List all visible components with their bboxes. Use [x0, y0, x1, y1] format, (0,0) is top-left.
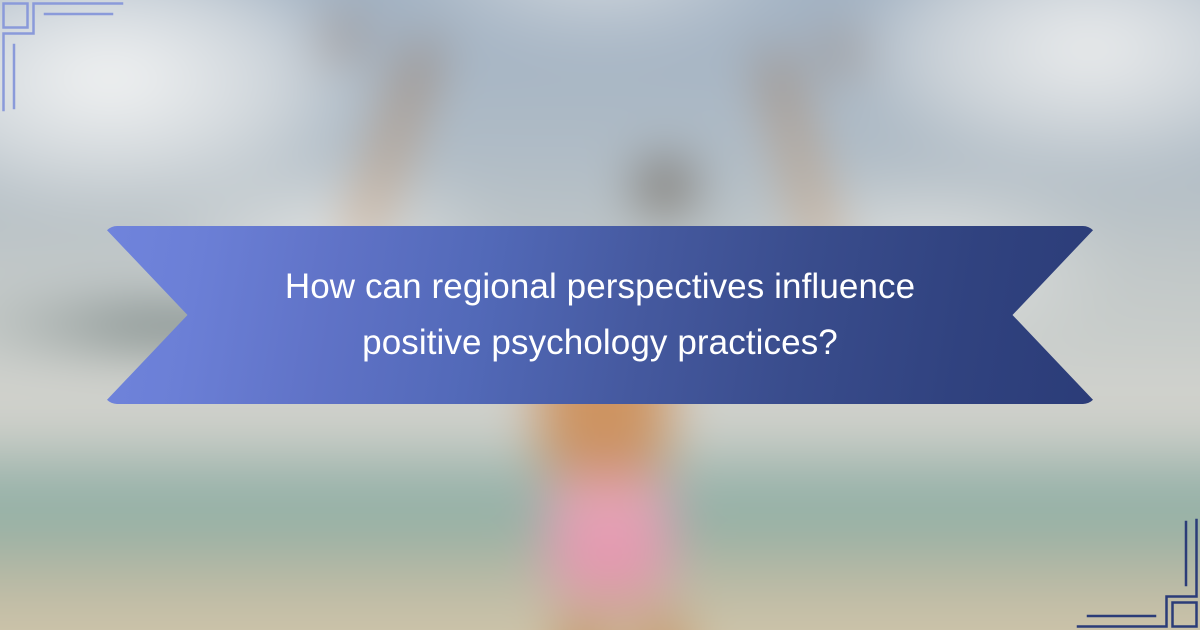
shorts-inseam	[620, 599, 636, 630]
screenshot-canvas: How can regional perspectives influence …	[0, 0, 1200, 630]
question-ribbon: How can regional perspectives influence …	[103, 226, 1097, 404]
ribbon-text-block: How can regional perspectives influence …	[103, 226, 1097, 404]
ribbon-line-2: positive psychology practices?	[362, 315, 838, 371]
person-shorts	[548, 473, 670, 599]
ribbon-line-1: How can regional perspectives influence	[285, 259, 915, 315]
person-head	[634, 157, 696, 215]
